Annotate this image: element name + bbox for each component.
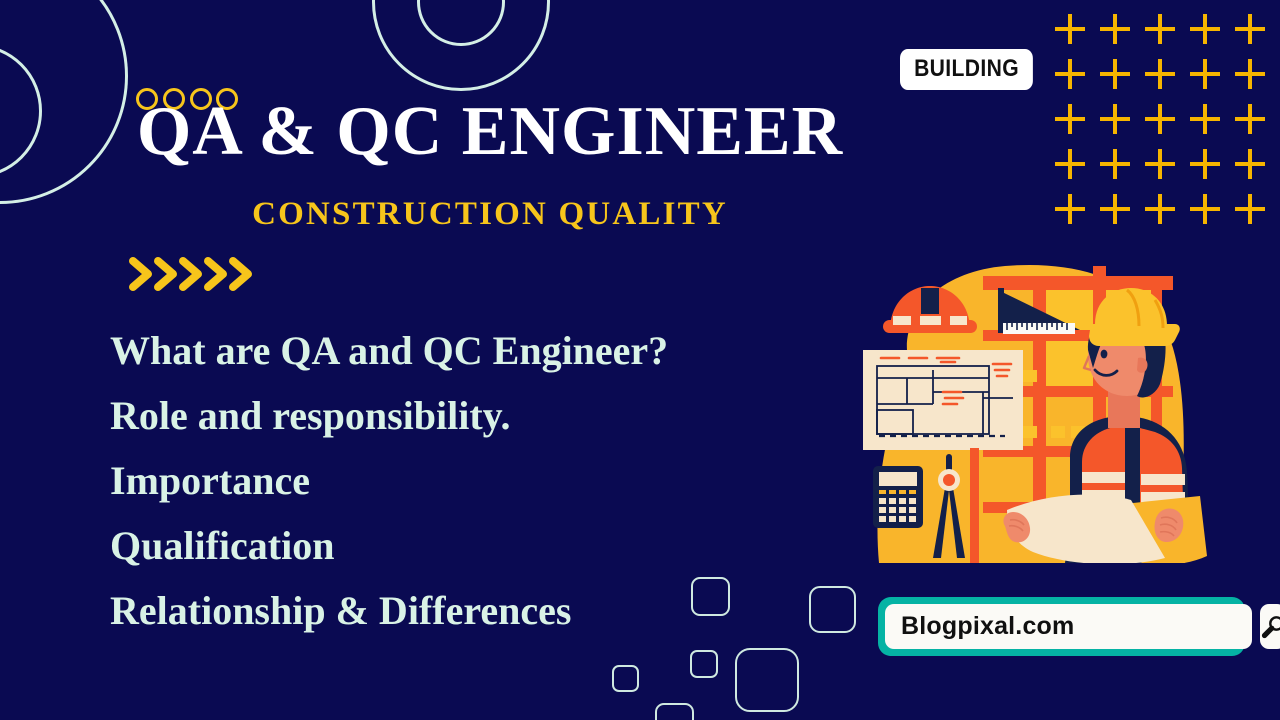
plus-icon: [1235, 14, 1265, 44]
search-bar[interactable]: [878, 597, 1245, 656]
decorative-rounded-square-6: [655, 703, 694, 720]
decorative-rounded-square-5: [735, 648, 799, 712]
support-pole: [970, 448, 979, 563]
plus-icon: [1145, 59, 1175, 89]
plus-icon: [1055, 59, 1085, 89]
decorative-rounded-square-1: [691, 577, 730, 616]
page-title: QA & QC ENGINEER: [0, 97, 1280, 167]
search-button[interactable]: [1260, 604, 1280, 649]
building-badge: BUILDING: [900, 49, 1033, 90]
construction-engineer-illustration: [855, 258, 1215, 563]
ruler-icon: [1003, 323, 1075, 334]
plus-icon: [1100, 14, 1130, 44]
blueprint-paper: [863, 350, 1023, 450]
search-icon: [1260, 614, 1280, 640]
list-item: Relationship & Differences: [110, 578, 870, 643]
decorative-rounded-square-3: [690, 650, 718, 678]
search-input[interactable]: [885, 604, 1252, 649]
plus-icon: [1190, 59, 1220, 89]
chevron-right-icon: [128, 254, 258, 294]
banner-root: BUILDING QA & QC ENGINEER CONSTRUCTION Q…: [0, 0, 1280, 720]
plus-icon: [1190, 14, 1220, 44]
plus-icon: [1145, 14, 1175, 44]
list-item: Importance: [110, 448, 870, 513]
plus-icon: [1100, 59, 1130, 89]
plus-icon: [1235, 59, 1265, 89]
decorative-rounded-square-2: [809, 586, 856, 633]
decorative-rounded-square-4: [612, 665, 639, 692]
page-subtitle: CONSTRUCTION QUALITY: [0, 198, 1280, 231]
topic-list: What are QA and QC Engineer? Role and re…: [110, 318, 870, 643]
list-item: Qualification: [110, 513, 870, 578]
calculator-icon: [873, 466, 923, 528]
chevron-row: [128, 252, 258, 296]
plus-icon: [1055, 14, 1085, 44]
list-item: Role and responsibility.: [110, 383, 870, 448]
list-item: What are QA and QC Engineer?: [110, 318, 870, 383]
